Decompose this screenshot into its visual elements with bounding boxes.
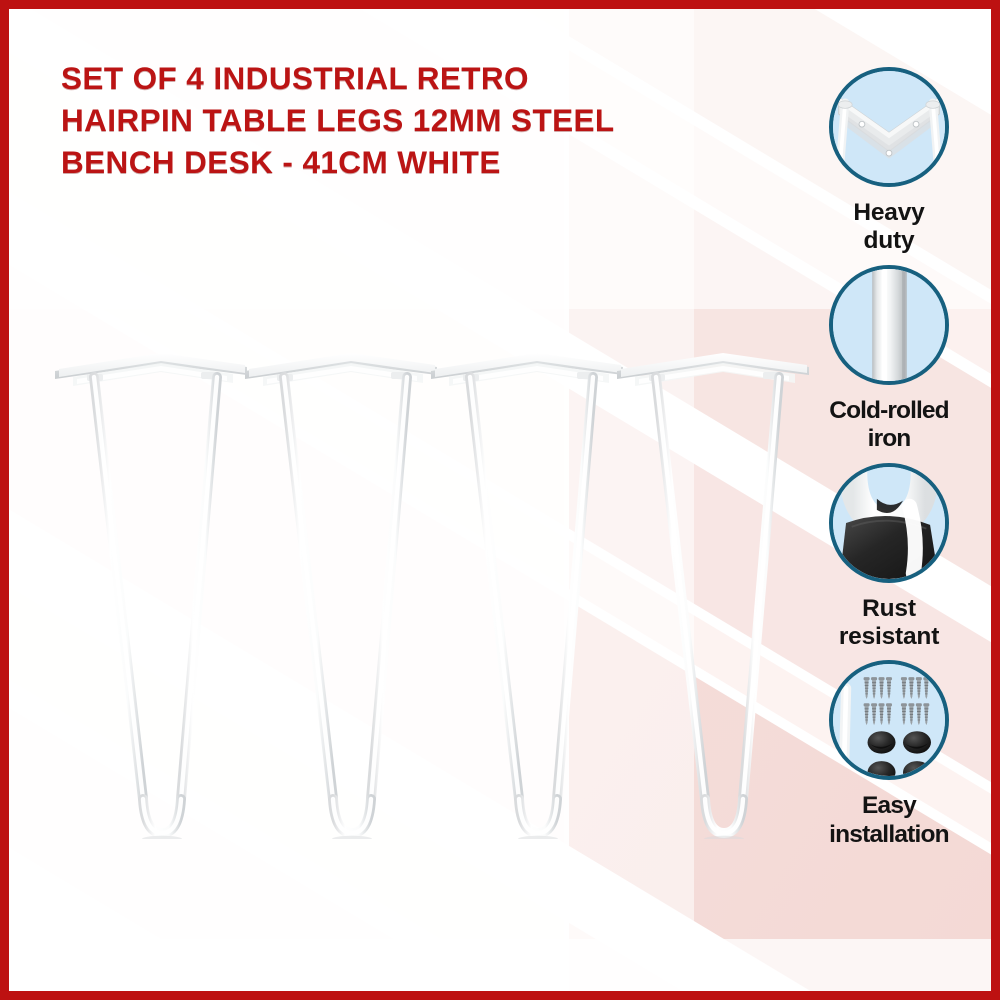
v-bracket-plate-svg [833, 71, 945, 183]
feature-label-cold-rolled-iron: Cold-rolled iron [829, 397, 948, 454]
feature-label-line-2: iron [829, 425, 948, 453]
feature-label-line-1: Cold-rolled [829, 397, 948, 425]
feature-heavy-duty: Heavy duty [801, 67, 977, 256]
feature-label-rust-resistant: Rust resistant [839, 595, 939, 652]
feature-label-line-2: duty [853, 227, 924, 255]
feature-label-line-2: resistant [839, 623, 939, 651]
feature-label-heavy-duty: Heavy duty [853, 199, 924, 256]
hairpin-legs-product-image [9, 339, 809, 839]
feature-list: Heavy duty [801, 67, 977, 858]
feature-label-line-2: installation [829, 821, 949, 849]
leg-foot-cap-icon [829, 463, 949, 583]
feature-label-line-1: Heavy [853, 199, 924, 227]
hairpin-leg-2 [245, 353, 437, 839]
metal-rod-svg [833, 269, 945, 381]
v-bracket-plate-icon [829, 67, 949, 187]
screws-and-feet-icon [829, 660, 949, 780]
feature-label-easy-installation: Easy installation [829, 792, 949, 849]
screws-and-feet-svg [833, 664, 945, 776]
hairpin-leg-4 [617, 353, 809, 839]
feature-label-line-1: Rust [839, 595, 939, 623]
hairpin-leg-1 [55, 353, 247, 839]
leg-foot-cap-svg [833, 467, 945, 579]
title-line-1: SET OF 4 INDUSTRIAL RETRO [61, 57, 721, 99]
hairpin-leg-3 [431, 353, 623, 839]
feature-easy-installation: Easy installation [801, 660, 977, 849]
metal-rod-icon [829, 265, 949, 385]
title-line-2: HAIRPIN TABLE LEGS 12MM STEEL [61, 99, 721, 141]
hairpin-legs-svg [9, 339, 809, 839]
product-title: SET OF 4 INDUSTRIAL RETRO HAIRPIN TABLE … [61, 57, 721, 184]
feature-label-line-1: Easy [829, 792, 949, 820]
title-line-3: BENCH DESK - 41CM WHITE [61, 141, 721, 183]
feature-cold-rolled-iron: Cold-rolled iron [801, 265, 977, 454]
feature-rust-resistant: Rust resistant [801, 463, 977, 652]
product-poster: SET OF 4 INDUSTRIAL RETRO HAIRPIN TABLE … [0, 0, 1000, 1000]
